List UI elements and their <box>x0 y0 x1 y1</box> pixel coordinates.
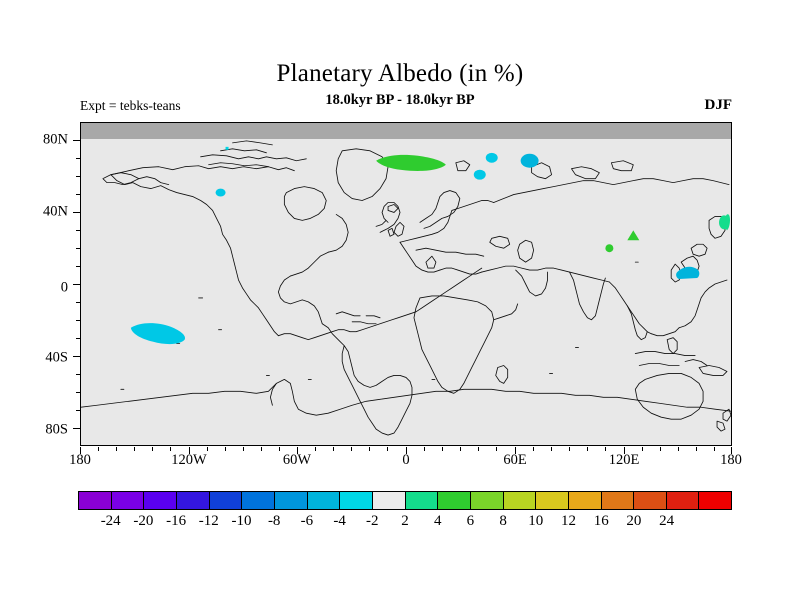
xtick-minor <box>387 447 388 451</box>
colorbar <box>78 491 732 510</box>
ytick-label: 80N <box>28 132 68 149</box>
colorbar-cell-18 <box>667 492 700 509</box>
xtick-minor <box>642 447 643 451</box>
ytick-major <box>73 140 80 141</box>
xtick-minor <box>424 447 425 451</box>
xtick-minor <box>569 447 570 451</box>
ytick-minor <box>76 392 80 393</box>
anomaly-patch-layer <box>81 123 731 445</box>
xtick-minor <box>170 447 171 451</box>
ytick-minor <box>76 158 80 159</box>
xtick-minor <box>351 447 352 451</box>
xtick-label: 60E <box>503 452 526 469</box>
xtick-minor <box>207 447 208 451</box>
colorbar-cell-6 <box>275 492 308 509</box>
xtick-minor <box>243 447 244 451</box>
xtick-label: 180 <box>69 452 91 469</box>
season-label: DJF <box>705 97 733 114</box>
xtick-minor <box>551 447 552 451</box>
ytick-minor <box>76 320 80 321</box>
xtick-minor <box>714 447 715 451</box>
ytick-minor <box>76 230 80 231</box>
colorbar-cell-19 <box>699 492 731 509</box>
colorbar-tick-label: 24 <box>659 513 674 530</box>
page-title: Planetary Albedo (in %) <box>0 60 800 88</box>
ytick-minor <box>76 302 80 303</box>
xtick-label: 120W <box>171 452 206 469</box>
ytick-label: 0 <box>28 280 68 297</box>
xtick-minor <box>152 447 153 451</box>
xtick-minor <box>587 447 588 451</box>
ytick-minor <box>76 338 80 339</box>
colorbar-cell-15 <box>569 492 602 509</box>
colorbar-tick-label: 8 <box>499 513 507 530</box>
figure-canvas: Planetary Albedo (in %) 18.0kyr BP - 18.… <box>0 0 800 600</box>
colorbar-cell-2 <box>144 492 177 509</box>
xtick-minor <box>98 447 99 451</box>
xtick-minor <box>478 447 479 451</box>
colorbar-tick-label: -4 <box>333 513 346 530</box>
xtick-minor <box>315 447 316 451</box>
anomaly-patch-kara-sea <box>521 154 539 168</box>
colorbar-cell-5 <box>242 492 275 509</box>
ytick-major <box>73 212 80 213</box>
ytick-minor <box>76 410 80 411</box>
xtick-minor <box>369 447 370 451</box>
colorbar-cell-16 <box>602 492 635 509</box>
xtick-minor <box>460 447 461 451</box>
colorbar-tick-label: -16 <box>166 513 186 530</box>
xtick-minor <box>678 447 679 451</box>
xtick-minor <box>279 447 280 451</box>
xtick-minor <box>261 447 262 451</box>
xtick-minor <box>660 447 661 451</box>
colorbar-cell-0 <box>79 492 112 509</box>
xtick-minor <box>496 447 497 451</box>
xtick-minor <box>333 447 334 451</box>
colorbar-cell-17 <box>634 492 667 509</box>
ytick-minor <box>76 194 80 195</box>
xtick-minor <box>605 447 606 451</box>
anomaly-patch-norwegian-sea <box>474 170 486 180</box>
xtick-label: 120E <box>609 452 640 469</box>
ytick-major <box>73 428 80 429</box>
anomaly-patch-baffin <box>226 147 229 150</box>
ytick-minor <box>76 374 80 375</box>
colorbar-cell-11 <box>438 492 471 509</box>
ytick-major <box>73 284 80 285</box>
anomaly-patch-south-china <box>676 267 699 279</box>
xtick-minor <box>225 447 226 451</box>
ytick-label: 40N <box>28 204 68 221</box>
xtick-minor <box>116 447 117 451</box>
colorbar-tick-label: -8 <box>268 513 281 530</box>
colorbar-tick-label: -6 <box>301 513 314 530</box>
colorbar-tick-label: -10 <box>232 513 252 530</box>
ytick-label: 40S <box>28 350 68 367</box>
colorbar-tick-label: 4 <box>434 513 442 530</box>
xtick-label: 180 <box>720 452 742 469</box>
anomaly-patch-central-asia-b <box>605 244 613 252</box>
ytick-minor <box>76 176 80 177</box>
colorbar-cell-13 <box>504 492 537 509</box>
anomaly-patch-white-sea <box>486 153 498 163</box>
xtick-minor <box>533 447 534 451</box>
colorbar-tick-label: 20 <box>626 513 641 530</box>
xtick-minor <box>696 447 697 451</box>
colorbar-cell-12 <box>471 492 504 509</box>
colorbar-tick-label: 2 <box>401 513 409 530</box>
xtick-minor <box>442 447 443 451</box>
anomaly-patch-south-pacific <box>131 323 185 344</box>
ytick-minor <box>76 248 80 249</box>
anomaly-patch-scandinavia <box>376 155 446 171</box>
xtick-label: 0 <box>402 452 409 469</box>
colorbar-cell-14 <box>536 492 569 509</box>
xtick-label: 60W <box>283 452 311 469</box>
colorbar-cell-4 <box>210 492 243 509</box>
colorbar-cell-1 <box>112 492 145 509</box>
colorbar-tick-label: 6 <box>467 513 475 530</box>
colorbar-cell-9 <box>373 492 406 509</box>
colorbar-tick-label: -2 <box>366 513 379 530</box>
colorbar-tick-label: -12 <box>199 513 219 530</box>
colorbar-tick-label: -24 <box>101 513 121 530</box>
colorbar-tick-label: 16 <box>594 513 609 530</box>
anomaly-patch-central-asia-a <box>627 230 639 240</box>
ytick-label: 80S <box>28 422 68 439</box>
xtick-minor <box>134 447 135 451</box>
colorbar-cell-3 <box>177 492 210 509</box>
colorbar-cell-7 <box>308 492 341 509</box>
colorbar-cell-8 <box>340 492 373 509</box>
anomaly-patch-kurils <box>719 215 729 229</box>
colorbar-cell-10 <box>406 492 439 509</box>
colorbar-tick-label: 12 <box>561 513 576 530</box>
experiment-label: Expt = tebks-teans <box>80 98 181 114</box>
colorbar-tick-label: -20 <box>133 513 153 530</box>
anomaly-patch-north-canada <box>216 189 226 197</box>
map-plot-area <box>80 122 732 446</box>
ytick-major <box>73 356 80 357</box>
colorbar-tick-label: 10 <box>528 513 543 530</box>
ytick-minor <box>76 266 80 267</box>
